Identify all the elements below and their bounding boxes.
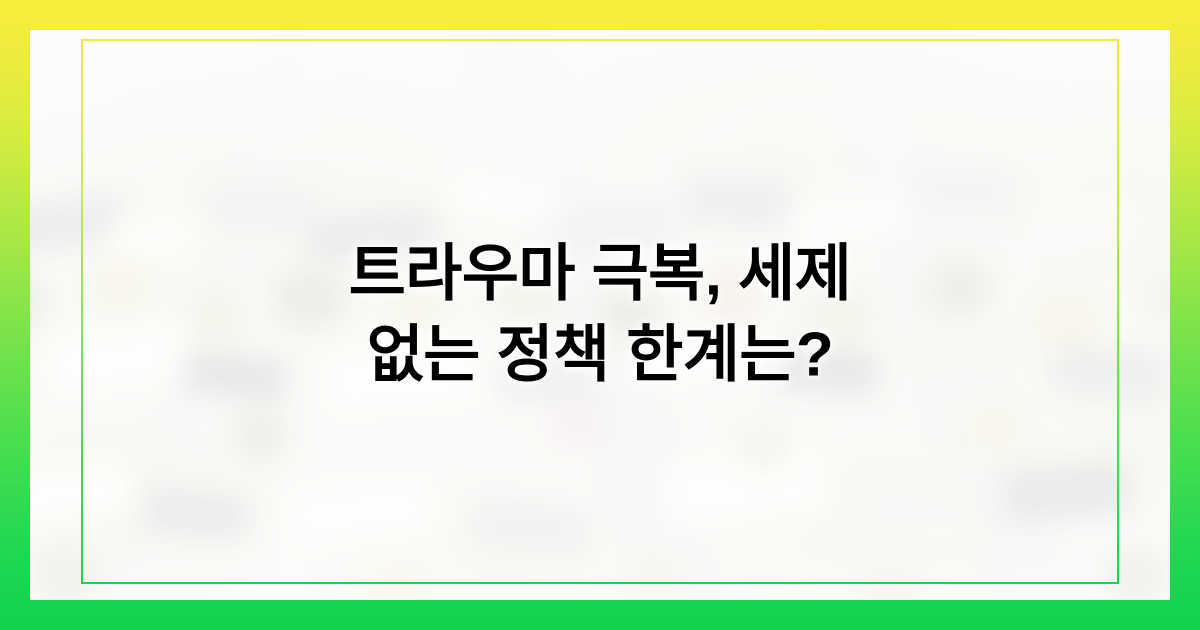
page-title: 트라우마 극복, 세제 없는 정책 한계는? [30,234,1170,395]
title-line-1: 트라우마 극복, 세제 [120,234,1080,315]
thumbnail-card: 트라우마 극복, 세제 없는 정책 한계는? [0,0,1200,630]
title-line-2: 없는 정책 한계는? [120,315,1080,396]
background-photo: 트라우마 극복, 세제 없는 정책 한계는? [30,30,1170,600]
